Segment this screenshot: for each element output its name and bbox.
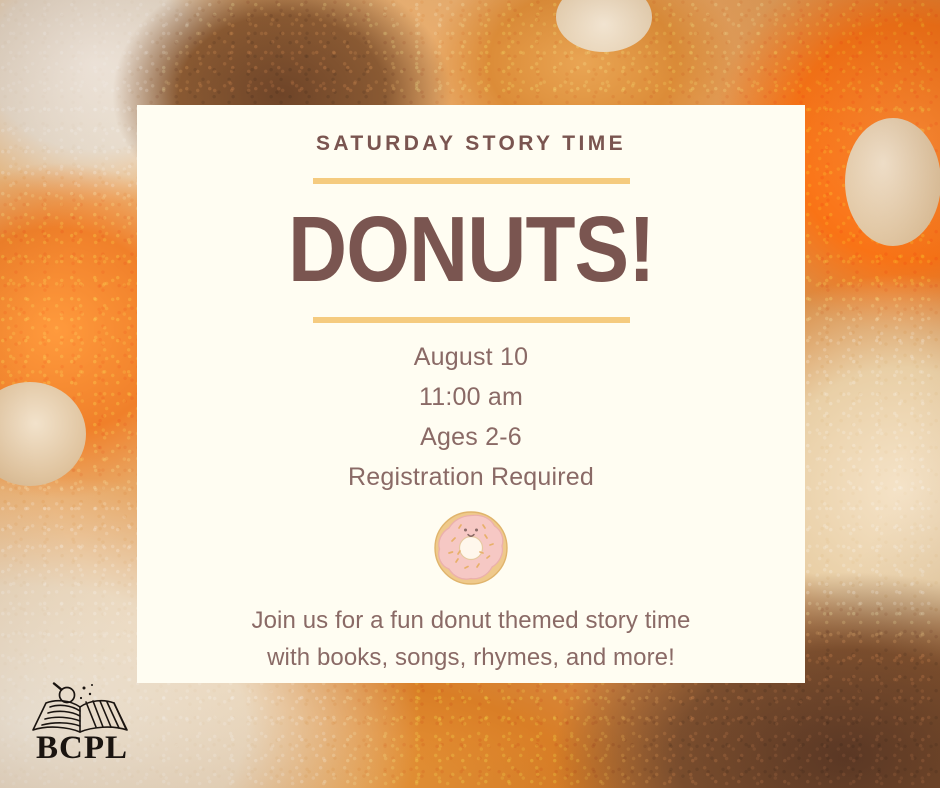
event-kicker: SATURDAY STORY TIME bbox=[316, 132, 626, 156]
event-time: 11:00 am bbox=[419, 383, 523, 412]
event-date: August 10 bbox=[414, 343, 528, 372]
event-card: SATURDAY STORY TIME DONUTS! August 10 11… bbox=[137, 105, 805, 683]
logo-text: BCPL bbox=[30, 730, 134, 767]
page-title: DONUTS! bbox=[288, 206, 655, 293]
donut-icon bbox=[431, 508, 511, 593]
event-details: August 10 11:00 am Ages 2-6 Registration… bbox=[348, 343, 594, 492]
divider-bottom bbox=[313, 317, 630, 323]
event-age-range: Ages 2-6 bbox=[420, 423, 522, 452]
event-tagline: Join us for a fun donut themed story tim… bbox=[252, 607, 691, 672]
tagline-line-2: with books, songs, rhymes, and more! bbox=[267, 644, 675, 672]
bcpl-logo: BCPL bbox=[26, 682, 134, 764]
poster-canvas: SATURDAY STORY TIME DONUTS! August 10 11… bbox=[0, 0, 940, 788]
tagline-line-1: Join us for a fun donut themed story tim… bbox=[252, 607, 691, 635]
event-registration: Registration Required bbox=[348, 463, 594, 492]
divider-top bbox=[313, 178, 630, 184]
